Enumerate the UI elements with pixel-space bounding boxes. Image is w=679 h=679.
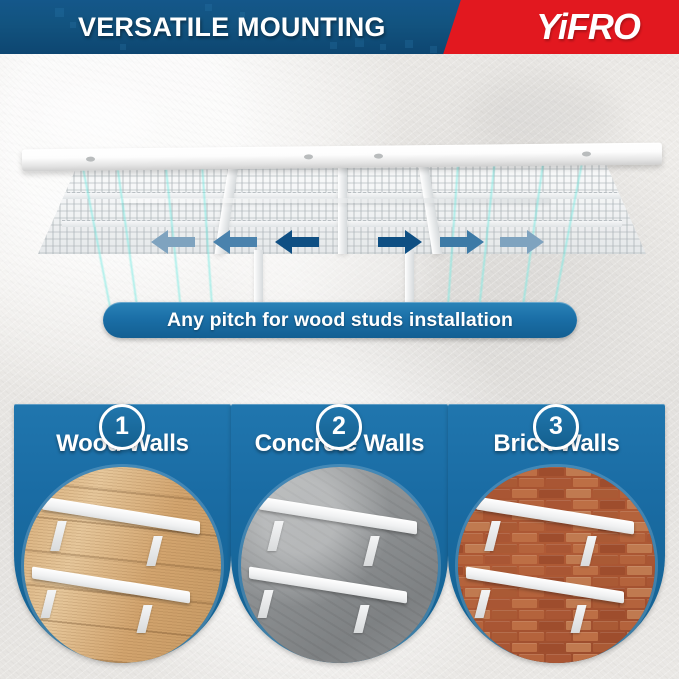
panel-photo-brick — [458, 467, 655, 663]
shelf-bracket — [354, 605, 370, 633]
brick — [546, 654, 571, 663]
brick — [519, 478, 544, 487]
shelf-bracket — [41, 590, 57, 618]
adjustable-position-arrows — [0, 227, 679, 269]
brick — [647, 555, 655, 564]
brick — [519, 566, 544, 575]
direction-arrow-right — [500, 227, 544, 257]
product-infographic: VERSATILE MOUNTING YiFRO — [0, 0, 679, 679]
brick — [512, 489, 537, 498]
brick — [600, 654, 625, 663]
panel-number-badge: 2 — [316, 404, 362, 450]
brick — [539, 643, 564, 652]
panel-number-badge: 1 — [99, 404, 145, 450]
shelf-upper — [476, 509, 634, 563]
brick — [458, 654, 463, 663]
wood-wall-texture — [24, 467, 221, 663]
brick — [458, 467, 483, 476]
shelf-bracket — [258, 590, 274, 618]
direction-arrow-right — [378, 227, 422, 257]
direction-arrow-left — [275, 227, 319, 257]
brick — [627, 588, 652, 597]
brick — [573, 632, 598, 641]
direction-arrow-left — [213, 227, 257, 257]
feature-banner: Any pitch for wood studs installation — [103, 302, 577, 338]
brick — [627, 566, 652, 575]
feature-banner-label: Any pitch for wood studs installation — [103, 302, 577, 338]
brick — [627, 654, 652, 663]
shelf-upper — [259, 509, 417, 563]
rail-screw-hole — [582, 151, 591, 156]
shelf-bracket — [484, 521, 500, 551]
brick — [458, 500, 463, 509]
panel-number: 2 — [319, 407, 359, 447]
brand-logo: YiFRO — [497, 5, 679, 49]
shelf-bracket — [267, 521, 283, 551]
shelf-crossbar — [120, 198, 550, 203]
shelf-bracket — [137, 605, 153, 633]
brick — [485, 467, 510, 476]
brick — [458, 632, 463, 641]
brick — [512, 467, 537, 476]
shelf-lower — [32, 579, 190, 633]
brick — [647, 621, 655, 630]
brick — [566, 467, 591, 476]
brick — [458, 610, 463, 619]
brick — [465, 654, 490, 663]
brick — [647, 511, 655, 520]
brick — [647, 577, 655, 586]
direction-arrow-right — [440, 227, 484, 257]
rail-screw-hole — [374, 154, 383, 159]
brick — [647, 489, 655, 498]
brick — [620, 643, 645, 652]
brick — [593, 467, 618, 476]
brick — [566, 643, 591, 652]
shelf-upper — [42, 509, 200, 563]
brick — [492, 654, 517, 663]
brick — [627, 500, 652, 509]
brick — [546, 478, 571, 487]
brick — [627, 610, 652, 619]
brick — [458, 522, 463, 531]
shelf-bracket — [475, 590, 491, 618]
wall-type-panel-concrete[interactable]: Concrete Walls 2 — [231, 404, 448, 663]
brick — [519, 632, 544, 641]
brick — [573, 654, 598, 663]
wall-type-panel-brick[interactable]: Brick Walls — [448, 404, 665, 663]
panel-photo-wood — [24, 467, 221, 663]
brick — [546, 566, 571, 575]
panel-photo-concrete — [241, 467, 438, 663]
concrete-wall-texture — [241, 467, 438, 663]
brick — [539, 467, 564, 476]
header-bar: VERSATILE MOUNTING YiFRO — [0, 0, 679, 54]
brick — [458, 588, 463, 597]
brick — [465, 632, 490, 641]
brick — [647, 643, 655, 652]
header-title: VERSATILE MOUNTING — [78, 8, 498, 46]
brick — [519, 654, 544, 663]
brick — [647, 533, 655, 542]
brick — [465, 478, 490, 487]
brick — [647, 467, 655, 476]
wall-type-panel-wood[interactable]: Wood Walls 1 — [14, 404, 231, 663]
brick — [600, 632, 625, 641]
brick — [458, 643, 483, 652]
rail-screw-hole — [304, 154, 313, 159]
panel-number: 3 — [536, 407, 576, 447]
shelf-bracket — [146, 536, 162, 566]
brick — [647, 599, 655, 608]
brick — [573, 566, 598, 575]
brick — [458, 544, 463, 553]
brick — [458, 478, 463, 487]
brick — [458, 566, 463, 575]
brick — [566, 489, 591, 498]
shelf-lower — [466, 579, 624, 633]
brick — [573, 500, 598, 509]
brick — [546, 632, 571, 641]
brick — [627, 478, 652, 487]
brick — [600, 566, 625, 575]
brick — [492, 478, 517, 487]
shelf-lower — [249, 579, 407, 633]
shelf-bracket — [571, 605, 587, 633]
shelf-bracket — [363, 536, 379, 566]
brick-wall-texture — [458, 467, 655, 663]
brick — [593, 643, 618, 652]
brick — [485, 489, 510, 498]
brick — [539, 489, 564, 498]
brick — [620, 489, 645, 498]
shelf-bracket — [50, 521, 66, 551]
brick — [620, 467, 645, 476]
brick-pattern — [458, 467, 655, 663]
brick — [600, 500, 625, 509]
panel-number: 1 — [102, 407, 142, 447]
brick — [593, 489, 618, 498]
brick — [492, 632, 517, 641]
brick — [600, 478, 625, 487]
brick — [573, 478, 598, 487]
panel-number-badge: 3 — [533, 404, 579, 450]
brick — [485, 643, 510, 652]
shelf-bracket — [580, 536, 596, 566]
wall-type-panels: Wood Walls 1 — [0, 384, 679, 679]
brick — [512, 643, 537, 652]
brick — [627, 632, 652, 641]
direction-arrow-left — [151, 227, 195, 257]
rail-screw-hole — [86, 157, 95, 162]
